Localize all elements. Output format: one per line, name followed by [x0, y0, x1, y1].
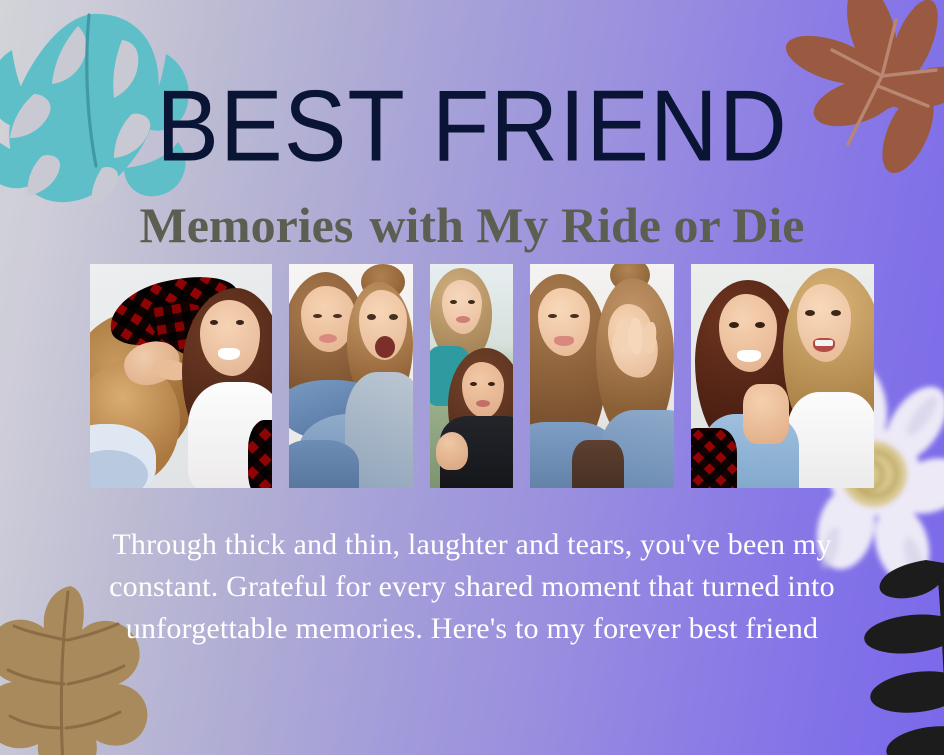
photo-3-scene — [430, 264, 513, 488]
photo-card-5[interactable] — [691, 264, 874, 488]
page-subtitle: Memorieswith My Ride or Die — [0, 200, 944, 250]
page-title: BESTFRIEND — [0, 75, 944, 177]
photo-1-scene — [90, 264, 272, 488]
photo-card-2[interactable] — [289, 264, 413, 488]
headline-word-friend: FRIEND — [432, 69, 788, 182]
subtitle-part-memories: Memories — [140, 197, 354, 253]
photo-card-3[interactable] — [430, 264, 513, 488]
headline-word-best: BEST — [156, 69, 406, 182]
poster-canvas: BESTFRIEND Memorieswith My Ride or Die — [0, 0, 944, 755]
quote-text: Through thick and thin, laughter and tea… — [72, 524, 872, 650]
photo-card-4[interactable] — [530, 264, 674, 488]
photo-5-scene — [691, 264, 874, 488]
photo-4-scene — [530, 264, 674, 488]
photo-card-1[interactable] — [90, 264, 272, 488]
subtitle-part-rest: with My Ride or Die — [369, 197, 804, 253]
photo-2-scene — [289, 264, 413, 488]
photo-strip — [90, 264, 856, 488]
